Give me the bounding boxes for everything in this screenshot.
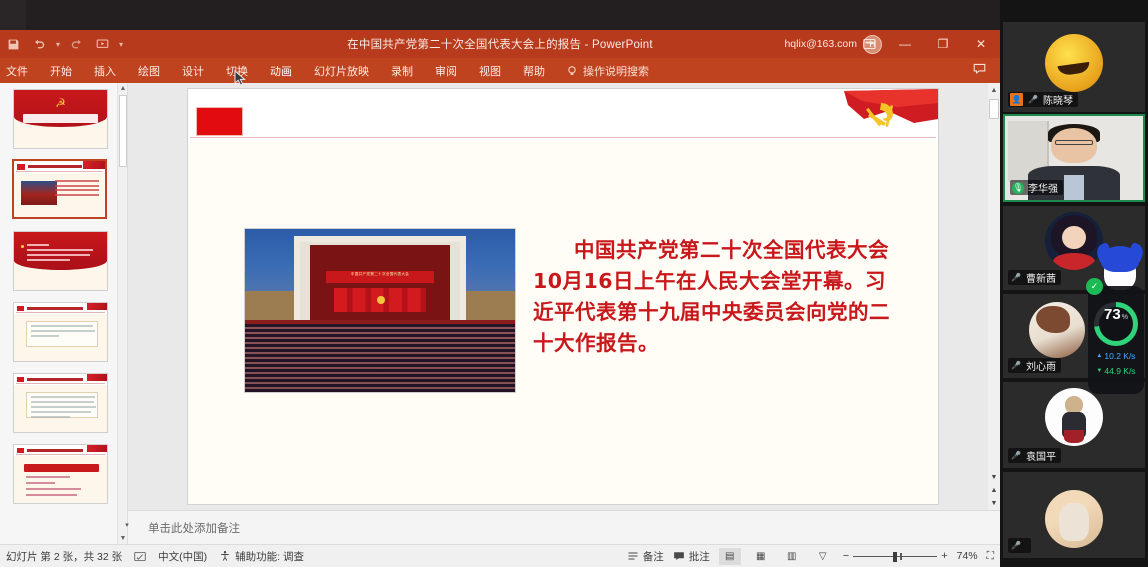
ribbon-tab-review[interactable]: 审阅 [424,58,468,83]
thumbnail-row [0,440,128,511]
participant-name: 袁国平 [1026,448,1056,463]
start-slideshow-icon[interactable] [93,35,112,54]
upload-speed-value: 10.2 K/s [1104,351,1135,361]
upload-arrow-icon: ▲ [1096,353,1102,359]
thumbnail-image [14,374,107,432]
notes-toggle-button[interactable]: 备注 [627,549,664,564]
slide-editing-area[interactable]: 中国共产党第二十次全国代表大会 中国共产党第二十次全国代表大会10月16日上午在… [128,83,1000,510]
slide-thumbnail-4[interactable] [13,302,108,362]
network-monitor-widget[interactable]: ✓ 73 % ▲ 10.2 K/s ▼ 44.9 K/s [1088,286,1144,394]
participant-name: 李华强 [1028,180,1058,195]
video-tile-1[interactable]: 👤 🎤 陈晓琴 [1003,22,1145,112]
screen: ▾ ▾ 在中国共产党第二十次全国代表大会上的报告 - PowerPoint hq… [0,0,1148,567]
thumbnail-row: ☭ [0,85,128,156]
customize-qat-icon[interactable]: ▾ [119,40,123,49]
ribbon-tab-view[interactable]: 视图 [468,58,512,83]
photo-banner-text: 中国共产党第二十次全国代表大会 [326,271,434,282]
zoom-track[interactable] [853,550,937,563]
account-email: hqlix@163.com [784,38,857,50]
thumbnail-image [14,232,107,290]
status-right: 备注 批注 ▤ ▦ ▥ ▽ − + 74% [627,548,1000,565]
scroll-down-icon[interactable]: ▼ [118,533,128,544]
status-bar: 幻灯片 第 2 张，共 32 张 中文(中国) 辅助功能: 调查 备注 批注 [0,544,1000,567]
mic-active-icon: 🎙 [1012,182,1024,194]
language-label[interactable]: 中文(中国) [158,549,207,564]
accessibility-status[interactable]: 辅助功能: 调查 [219,549,304,564]
download-speed-value: 44.9 K/s [1104,366,1135,376]
ribbon-tab-draw[interactable]: 绘图 [127,58,171,83]
mic-muted-icon: 🎤 [1010,272,1022,284]
notes-placeholder[interactable]: 单击此处添加备注 [148,520,240,536]
host-badge-icon: 👤 [1010,93,1023,106]
undo-icon[interactable] [30,35,49,54]
redo-icon[interactable] [67,35,86,54]
slide-title-placeholder-box[interactable] [196,107,243,136]
zoom-slider[interactable]: − + [843,550,948,563]
spellcheck-icon[interactable] [134,551,146,562]
window-controls[interactable]: — ❐ ✕ [852,30,1000,58]
ribbon-tab-home[interactable]: 开始 [39,58,83,83]
save-icon[interactable] [4,35,23,54]
thumbnail-row [0,227,128,298]
workspace: ☭ [0,83,1000,544]
lightbulb-icon [566,65,578,77]
mic-muted-icon: 🎤 [1027,94,1039,106]
mic-muted-icon: 🎤 [1010,360,1022,372]
slide-sorter-button[interactable]: ▦ [750,548,772,565]
window-top-strip [0,0,1000,30]
thumbnail-image [14,303,107,361]
status-left: 幻灯片 第 2 张，共 32 张 中文(中国) 辅助功能: 调查 [0,549,304,564]
thumbnail-image [14,161,105,217]
slide-headline-text[interactable]: 中国共产党第二十次全国代表大会10月16日上午在人民大会堂开幕。习近平代表第十九… [533,235,903,360]
top-strip-cap [0,0,26,30]
zoom-slider-handle[interactable] [893,552,897,562]
current-slide[interactable]: 中国共产党第二十次全国代表大会 中国共产党第二十次全国代表大会10月16日上午在… [188,89,938,504]
notes-pane[interactable]: ▾ 单击此处添加备注 [128,510,1000,544]
video-tile-6[interactable]: 🎤 [1003,472,1145,558]
avatar [1045,388,1103,446]
download-arrow-icon: ▼ [1096,368,1102,374]
network-percent-value: 73 [1104,307,1121,322]
network-percent-symbol: % [1122,314,1128,321]
comments-icon[interactable] [973,63,986,77]
slide-thumbnail-1[interactable]: ☭ [13,89,108,149]
ribbon-tab-help[interactable]: 帮助 [512,58,556,83]
ribbon-display-options-icon[interactable] [852,30,886,58]
normal-view-button[interactable]: ▤ [719,548,741,565]
participant-name: 刘心雨 [1026,358,1056,373]
fit-slide-to-window-icon[interactable]: ⛶ [987,550,994,563]
ribbon-tab-file[interactable]: 文件 [0,58,39,83]
scroll-up-icon[interactable]: ▲ [118,83,128,94]
thumbnail-scroll-thumb[interactable] [119,95,127,167]
mic-muted-icon: 🎤 [1010,450,1022,462]
avatar [1045,490,1103,548]
thumbnail-row [0,156,128,227]
thumbnail-scrollbar[interactable]: ▲ ▼ [117,83,127,544]
slide-thumbnail-5[interactable] [13,373,108,433]
avatar [1045,34,1103,92]
ribbon-tab-animations[interactable]: 动画 [259,58,303,83]
notes-collapse-icon[interactable]: ▾ [121,521,133,533]
close-button[interactable]: ✕ [962,30,1000,58]
security-shield-icon: ✓ [1086,278,1103,295]
slide-scroll-thumb[interactable] [989,99,999,119]
network-usage-ring: 73 % [1094,302,1138,346]
slide-vertical-scrollbar[interactable]: ▲ ▼ ▲ ▼ [988,83,1000,510]
slide-thumbnail-list: ☭ [0,85,128,511]
previous-slide-button[interactable]: ▼ [988,471,1000,484]
meeting-video-panel: 👤 🎤 陈晓琴 🎙 李华强 🎤 曹新茜 [1000,0,1148,567]
upload-speed-row: ▲ 10.2 K/s [1096,351,1135,361]
zoom-level-label[interactable]: 74% [957,550,978,562]
accessibility-icon [219,550,231,562]
next-slide-button[interactable]: ▼ [988,497,1000,510]
title-bar: ▾ ▾ 在中国共产党第二十次全国代表大会上的报告 - PowerPoint hq… [0,30,1000,58]
slideshow-button[interactable]: ▽ [812,548,834,565]
ribbon-tab-bar[interactable]: 文件 开始 插入 绘图 设计 切换 动画 幻灯片放映 录制 审阅 视图 帮助 操… [0,58,1000,83]
thumbnail-image [14,445,107,503]
reading-view-button[interactable]: ▥ [781,548,803,565]
tell-me-search[interactable]: 操作说明搜索 [556,63,659,79]
download-speed-row: ▼ 44.9 K/s [1096,366,1135,376]
participant-name-row: 👤 🎤 陈晓琴 [1008,92,1078,107]
video-tile-5[interactable]: 🎤 袁国平 [1003,382,1145,468]
thumbnail-image: ☭ [14,90,107,148]
zoom-out-button[interactable]: − [843,550,849,562]
party-flag-emblem-icon [818,89,938,137]
ribbon-tab-design[interactable]: 设计 [171,58,215,83]
participant-name-row: 🎤 袁国平 [1008,448,1061,463]
participant-name-row: 🎤 曹新茜 [1008,270,1061,285]
participant-name-row: 🎤 [1008,538,1031,553]
participant-name: 曹新茜 [1026,270,1056,285]
slide-thumbnail-2[interactable] [12,159,107,219]
ribbon-tab-insert[interactable]: 插入 [83,58,127,83]
slide-thumbnail-pane[interactable]: ☭ [0,83,128,544]
scroll-up-arrow-button[interactable]: ▲ [988,484,1000,497]
participant-name-row: 🎙 李华强 [1010,180,1063,195]
undo-dropdown-icon[interactable]: ▾ [56,40,60,49]
avatar [1045,212,1103,270]
maximize-button[interactable]: ❐ [924,30,962,58]
comments-toggle-button[interactable]: 批注 [673,549,710,564]
slide-thumbnail-3[interactable] [13,231,108,291]
participant-name: 陈晓琴 [1043,92,1073,107]
video-tile-2[interactable]: 🎙 李华强 [1003,114,1145,202]
thumbnail-row [0,298,128,369]
powerpoint-window: ▾ ▾ 在中国共产党第二十次全国代表大会上的报告 - PowerPoint hq… [0,0,1000,567]
ribbon-tab-record[interactable]: 录制 [380,58,424,83]
participant-name-row: 🎤 刘心雨 [1008,358,1061,373]
tell-me-placeholder: 操作说明搜索 [583,63,649,79]
ribbon-tab-slideshow[interactable]: 幻灯片放映 [303,58,380,83]
photo-content: 中国共产党第二十次全国代表大会 [245,229,515,392]
minimize-button[interactable]: — [886,30,924,58]
quick-access-toolbar[interactable]: ▾ ▾ [4,34,123,54]
slide-count-label[interactable]: 幻灯片 第 2 张，共 32 张 [6,549,122,564]
slide-thumbnail-6[interactable] [13,444,108,504]
thumbnail-row [0,369,128,440]
zoom-in-button[interactable]: + [941,550,947,562]
ribbon-tab-transitions[interactable]: 切换 [215,58,259,83]
mic-muted-icon: 🎤 [1010,540,1022,552]
avatar [1029,302,1085,358]
congress-hall-photo[interactable]: 中国共产党第二十次全国代表大会 [244,228,516,393]
scroll-up-icon[interactable]: ▲ [988,84,1000,97]
